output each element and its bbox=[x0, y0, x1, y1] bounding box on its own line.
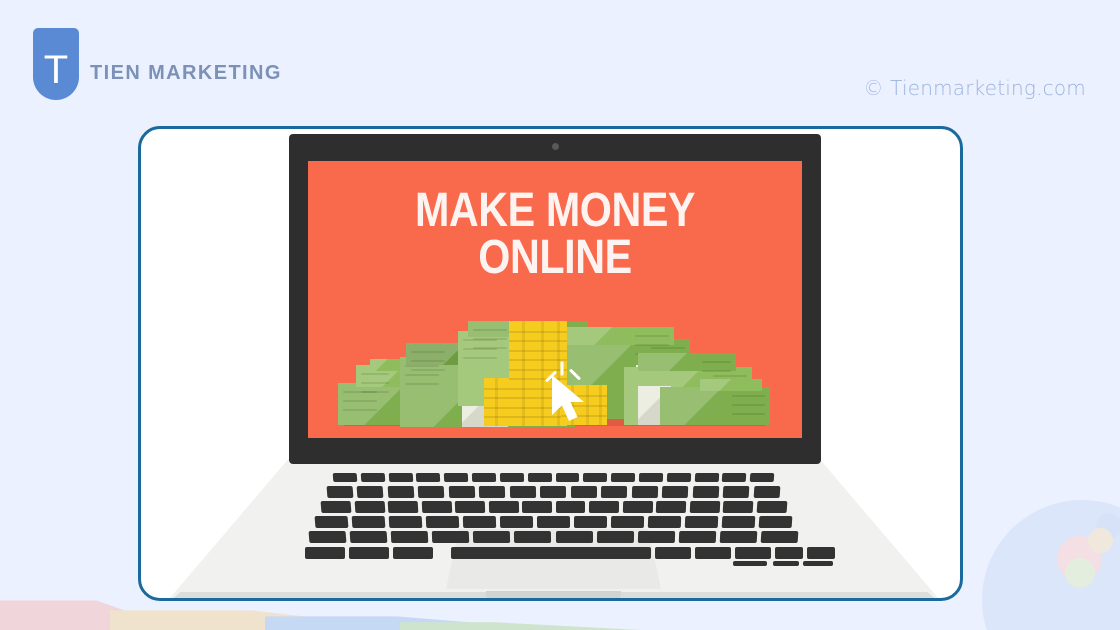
screen-headline: MAKE MONEY ONLINE bbox=[343, 187, 768, 281]
wave-blue bbox=[265, 608, 565, 630]
laptop-screen: MAKE MONEY ONLINE bbox=[308, 161, 802, 438]
keyboard-key[interactable] bbox=[656, 501, 686, 513]
keyboard-key-arrow[interactable] bbox=[773, 561, 799, 566]
bundle-edge-line bbox=[473, 329, 507, 331]
keyboard-key[interactable] bbox=[722, 473, 746, 482]
keyboard-key[interactable] bbox=[321, 501, 351, 513]
keyboard-key[interactable] bbox=[432, 531, 470, 543]
webcam-dot-icon bbox=[552, 143, 559, 150]
keyboard-key[interactable] bbox=[500, 516, 533, 528]
money-bundle bbox=[370, 359, 400, 371]
keyboard-key[interactable] bbox=[389, 516, 423, 528]
keyboard-key[interactable] bbox=[327, 486, 354, 498]
bundle-edge-line bbox=[702, 361, 731, 363]
keyboard-key[interactable] bbox=[631, 486, 658, 498]
keyboard-key[interactable] bbox=[388, 501, 418, 513]
keyboard-key[interactable] bbox=[540, 486, 567, 498]
keyboard-key[interactable] bbox=[720, 531, 758, 543]
keyboard-key[interactable] bbox=[463, 516, 496, 528]
keyboard-key[interactable] bbox=[761, 531, 799, 543]
deco-big-circle bbox=[982, 500, 1120, 630]
keyboard-key[interactable] bbox=[514, 531, 551, 543]
bundle-edge-line bbox=[411, 369, 445, 371]
bundle-edge-line bbox=[343, 400, 377, 402]
deco-circle-pink bbox=[1057, 536, 1102, 581]
bundle-edge-line bbox=[405, 374, 439, 376]
keyboard-key[interactable] bbox=[488, 501, 518, 513]
keyboard-key[interactable] bbox=[354, 501, 384, 513]
bundle-edge-line bbox=[473, 347, 507, 349]
money-stacks-illustration bbox=[308, 313, 802, 438]
keyboard-key[interactable] bbox=[556, 473, 580, 482]
bundle-edge-line bbox=[463, 357, 497, 359]
keyboard-key[interactable] bbox=[349, 547, 389, 559]
keyboard-key[interactable] bbox=[655, 547, 691, 559]
keyboard-key[interactable] bbox=[472, 473, 496, 482]
keyboard-key[interactable] bbox=[305, 547, 345, 559]
bundle-edge-line bbox=[361, 373, 389, 375]
keyboard-key-space[interactable] bbox=[451, 547, 651, 559]
keyboard-key[interactable] bbox=[479, 486, 506, 498]
keyboard-key[interactable] bbox=[388, 473, 412, 482]
bundle-edge-line bbox=[405, 383, 439, 385]
keyboard-key[interactable] bbox=[352, 516, 386, 528]
keyboard-key[interactable] bbox=[807, 547, 835, 559]
keyboard-key[interactable] bbox=[611, 473, 635, 482]
bundle-edge-line bbox=[473, 338, 507, 340]
keyboard-key[interactable] bbox=[648, 516, 681, 528]
money-bundle bbox=[700, 379, 762, 391]
keyboard-key[interactable] bbox=[528, 473, 552, 482]
deco-circle-beige bbox=[1088, 528, 1113, 553]
keyboard-key[interactable] bbox=[753, 486, 780, 498]
keyboard-key[interactable] bbox=[426, 516, 460, 528]
keyboard-key[interactable] bbox=[556, 501, 586, 513]
bundle-edge-line bbox=[651, 347, 685, 349]
keyboard-key[interactable] bbox=[759, 516, 793, 528]
deco-circle-blue bbox=[1096, 513, 1120, 539]
keyboard-key[interactable] bbox=[350, 531, 388, 543]
coin-edge-line bbox=[522, 321, 525, 426]
keyboard-key[interactable] bbox=[637, 531, 674, 543]
keyboard-key[interactable] bbox=[775, 547, 803, 559]
keyboard-key[interactable] bbox=[723, 486, 750, 498]
keyboard-key[interactable] bbox=[361, 473, 385, 482]
keyboard-key[interactable] bbox=[589, 501, 619, 513]
keyboard-key-arrow[interactable] bbox=[803, 561, 833, 566]
bundle-edge-line bbox=[702, 370, 731, 372]
bundle-edge-line bbox=[713, 375, 747, 377]
keyboard-key[interactable] bbox=[685, 516, 719, 528]
coin-edge-line bbox=[599, 385, 602, 425]
brand-name: TIEN MARKETING bbox=[90, 62, 282, 85]
keyboard-key[interactable] bbox=[601, 486, 628, 498]
keyboard-key[interactable] bbox=[522, 501, 552, 513]
coin-edge-line bbox=[495, 378, 498, 426]
keyboard-key[interactable] bbox=[455, 501, 485, 513]
keyboard-key[interactable] bbox=[722, 516, 756, 528]
keyboard-key[interactable] bbox=[421, 501, 451, 513]
keyboard-key[interactable] bbox=[750, 473, 774, 482]
keyboard-key[interactable] bbox=[449, 486, 476, 498]
keyboard-key[interactable] bbox=[510, 486, 537, 498]
bundle-edge-line bbox=[411, 360, 445, 362]
keyboard-key[interactable] bbox=[333, 473, 358, 482]
keyboard-key[interactable] bbox=[416, 473, 440, 482]
keyboard-key[interactable] bbox=[315, 516, 349, 528]
keyboard-key[interactable] bbox=[537, 516, 570, 528]
money-bundle bbox=[638, 353, 736, 371]
keyboard-key[interactable] bbox=[357, 486, 384, 498]
bundle-highlight bbox=[700, 379, 762, 391]
laptop-lid: MAKE MONEY ONLINE bbox=[289, 134, 821, 464]
keyboard-key[interactable] bbox=[444, 473, 468, 482]
brand-logo-letter: T bbox=[44, 50, 68, 90]
keyboard-key[interactable] bbox=[667, 473, 691, 482]
keyboard-key[interactable] bbox=[694, 473, 718, 482]
keyboard-key[interactable] bbox=[571, 486, 598, 498]
keyboard-key[interactable] bbox=[695, 547, 731, 559]
headline-line-1: MAKE MONEY bbox=[415, 184, 695, 237]
keyboard-key[interactable] bbox=[574, 516, 607, 528]
wave-tan bbox=[110, 602, 420, 630]
keyboard-key[interactable] bbox=[473, 531, 510, 543]
coin-edge-line bbox=[541, 321, 544, 426]
bundle-edge-line bbox=[635, 335, 669, 337]
brand-shield-logo-icon: T bbox=[33, 28, 79, 100]
bundle-highlight bbox=[660, 387, 770, 425]
laptop-illustration: MAKE MONEY ONLINE bbox=[141, 129, 963, 601]
bundle-edge-line bbox=[732, 395, 765, 397]
money-bundle bbox=[554, 327, 674, 345]
keyboard-key[interactable] bbox=[596, 531, 633, 543]
keyboard-key[interactable] bbox=[689, 501, 719, 513]
laptop-front-notch bbox=[486, 591, 621, 598]
keyboard-key[interactable] bbox=[662, 486, 689, 498]
keyboard-key[interactable] bbox=[723, 501, 753, 513]
keyboard-key[interactable] bbox=[639, 473, 663, 482]
copyright-text: © Tienmarketing.com bbox=[863, 76, 1086, 100]
keyboard-key[interactable] bbox=[583, 473, 607, 482]
keyboard-key[interactable] bbox=[388, 486, 415, 498]
bundle-edge-line bbox=[732, 404, 765, 406]
bundle-edge-line bbox=[361, 391, 389, 393]
keyboard-key[interactable] bbox=[735, 547, 771, 559]
bundle-edge-line bbox=[411, 351, 445, 353]
slide-canvas: T TIEN MARKETING © Tienmarketing.com MAK… bbox=[0, 0, 1120, 630]
wave-green bbox=[400, 616, 640, 630]
keyboard-key[interactable] bbox=[556, 531, 593, 543]
keyboard-key[interactable] bbox=[418, 486, 445, 498]
keyboard-key[interactable] bbox=[393, 547, 433, 559]
keyboard-key[interactable] bbox=[679, 531, 717, 543]
brand-lockup[interactable]: T TIEN MARKETING bbox=[33, 28, 282, 100]
bundle-edge-line bbox=[361, 382, 389, 384]
mouse-cursor-arrow-icon bbox=[548, 373, 592, 428]
bundle-edge-line bbox=[343, 409, 377, 411]
keyboard-key[interactable] bbox=[622, 501, 652, 513]
keyboard-key[interactable] bbox=[391, 531, 429, 543]
bundle-edge-line bbox=[405, 365, 439, 367]
money-bundle bbox=[660, 387, 770, 425]
content-card: MAKE MONEY ONLINE bbox=[138, 126, 963, 601]
keyboard-key[interactable] bbox=[756, 501, 786, 513]
keyboard-key-arrow[interactable] bbox=[733, 561, 767, 566]
keyboard-key[interactable] bbox=[309, 531, 347, 543]
headline-line-2: ONLINE bbox=[343, 234, 768, 281]
bundle-edge-line bbox=[732, 413, 765, 415]
deco-circle-green bbox=[1065, 558, 1095, 588]
keyboard-key[interactable] bbox=[692, 486, 719, 498]
bundle-highlight bbox=[370, 359, 400, 371]
keyboard-key[interactable] bbox=[500, 473, 524, 482]
bundle-edge-line bbox=[635, 344, 669, 346]
keyboard-key[interactable] bbox=[611, 516, 644, 528]
